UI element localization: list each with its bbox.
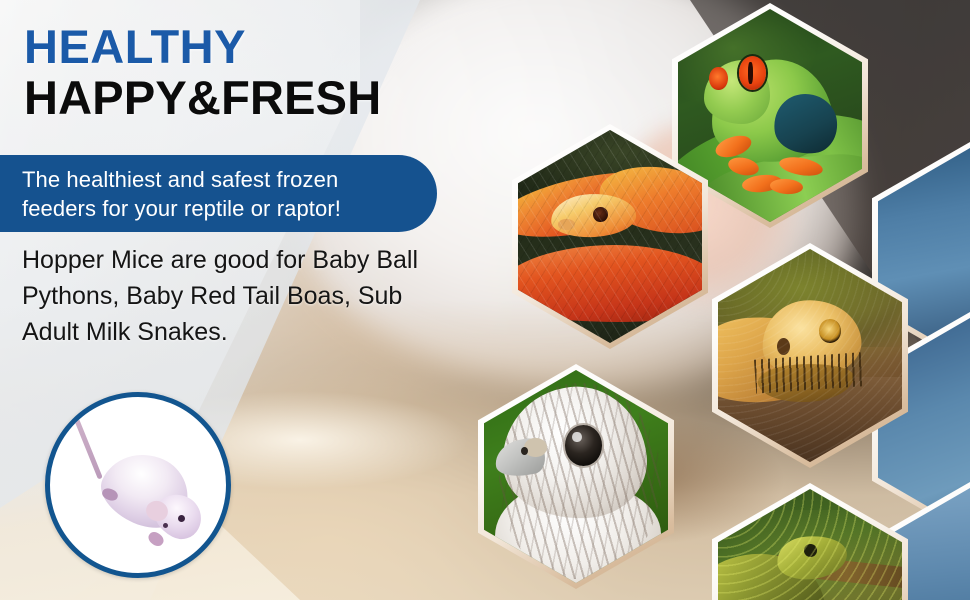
hex-snake-photo [518, 130, 702, 343]
product-photo-circle [45, 392, 231, 578]
mouse-foot-front [146, 529, 166, 548]
headline-block: HEALTHY HAPPY&FRESH [24, 22, 381, 124]
hex-falcon [478, 364, 674, 589]
description-text: Hopper Mice are good for Baby Ball Pytho… [22, 242, 422, 350]
mouse-eye [178, 515, 185, 522]
hex-dragon-photo [718, 249, 902, 462]
hex-falcon-photo [484, 370, 668, 583]
headline-line-1: HEALTHY [24, 22, 381, 72]
headline-line-2: HAPPY&FRESH [24, 72, 381, 124]
hex-lizard [712, 483, 908, 600]
product-banner: HEALTHY HAPPY&FRESH The healthiest and s… [0, 0, 970, 600]
mouse-tail [74, 418, 103, 479]
mouse-nose [163, 523, 168, 528]
tagline-text: The healthiest and safest frozen feeders… [0, 165, 437, 223]
hex-lizard-photo [718, 489, 902, 600]
tagline-banner: The healthiest and safest frozen feeders… [0, 155, 437, 232]
